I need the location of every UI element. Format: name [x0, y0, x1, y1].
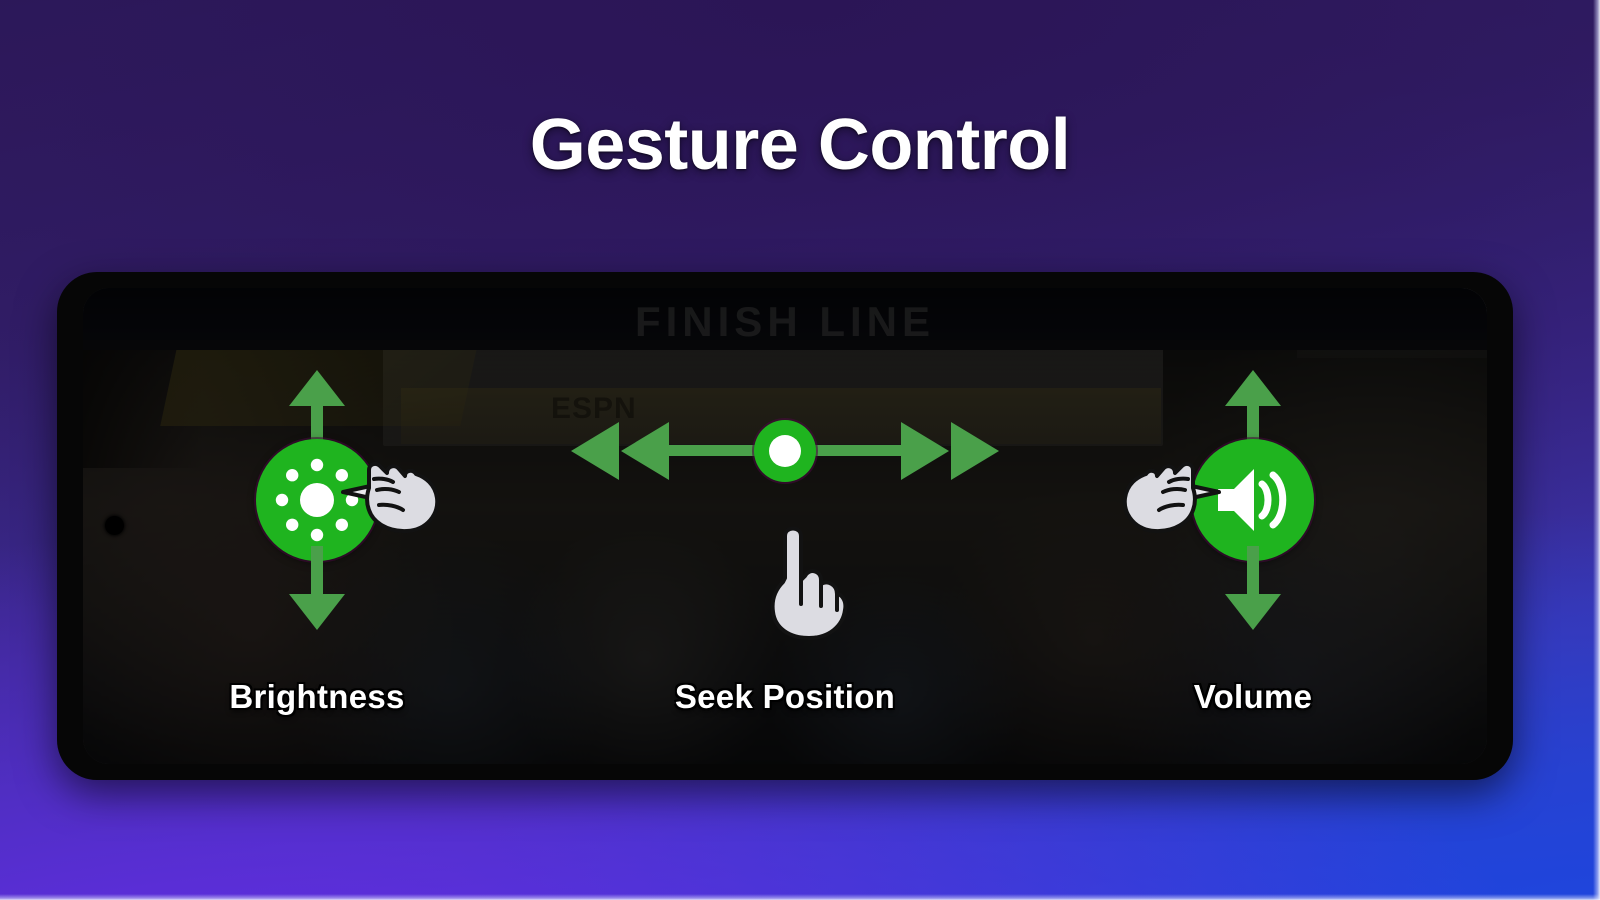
brightness-label: Brightness	[83, 678, 551, 716]
brightness-sun-icon[interactable]	[256, 439, 378, 561]
gesture-zone-seek[interactable]: Seek Position	[551, 288, 1019, 764]
seek-dot-core	[769, 435, 801, 467]
hand-point-up-icon	[745, 518, 855, 640]
seek-dot-icon[interactable]	[754, 420, 816, 482]
gesture-zone-brightness[interactable]: Brightness	[83, 288, 551, 764]
background-bottom-edge-highlight	[0, 894, 1600, 900]
page-title: Gesture Control	[0, 104, 1600, 186]
arrow-down-icon	[1223, 546, 1283, 632]
seek-gesture-group[interactable]	[565, 406, 1005, 496]
arrow-down-icon	[287, 546, 347, 632]
seek-label: Seek Position	[551, 678, 1019, 716]
front-camera-punch-hole	[105, 516, 124, 535]
volume-label: Volume	[1019, 678, 1487, 716]
brightness-gesture-group[interactable]	[232, 372, 402, 628]
volume-speaker-icon[interactable]	[1192, 439, 1314, 561]
screenshot-root: Gesture Control FINISH LINE ESPN	[0, 0, 1600, 900]
phone-screen: FINISH LINE ESPN	[83, 288, 1487, 764]
gesture-zone-volume[interactable]: Volume	[1019, 288, 1487, 764]
volume-gesture-group[interactable]	[1168, 372, 1338, 628]
phone-device-frame: FINISH LINE ESPN	[57, 272, 1513, 780]
